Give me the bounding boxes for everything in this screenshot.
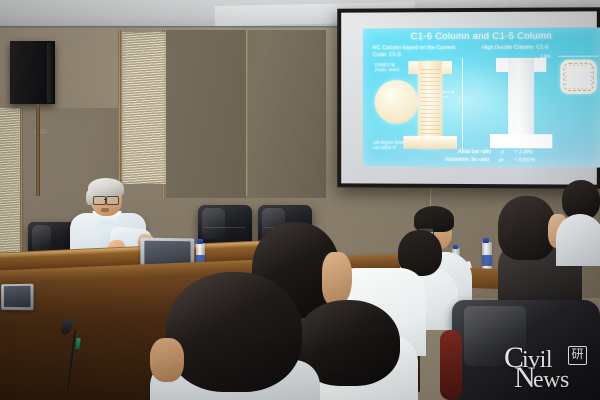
wall-striped-panel-2 bbox=[0, 108, 22, 258]
presenter-glasses-bridge bbox=[104, 199, 107, 200]
photo-scene: C1-6 Column and C1-5 Column RC Column ba… bbox=[0, 0, 600, 400]
slide-left-subtitle: RC Column based on the Current Code: C1-… bbox=[373, 45, 456, 58]
presenter-mouth bbox=[101, 208, 109, 212]
presentation-slide: C1-6 Column and C1-5 Column RC Column ba… bbox=[363, 27, 600, 167]
slide-footer-symbol-1: ρ bbox=[501, 148, 504, 156]
slide-right-subtitle: High Ductile Column: C1-6 bbox=[482, 45, 583, 52]
wall-striped-panel-1 bbox=[122, 32, 166, 184]
slide-note-rebar: D35@37本 (Outer, Inner) bbox=[375, 62, 400, 72]
presenter-glasses-right bbox=[106, 196, 119, 205]
chair-sheen bbox=[464, 306, 526, 366]
slide-footer-label-1: Axial bar ratio bbox=[429, 148, 491, 156]
bottle-label bbox=[482, 255, 492, 266]
slide-left-column-hatch bbox=[420, 68, 440, 146]
slide-dimension-label: 1.8m bbox=[540, 54, 550, 59]
wall-panel-a bbox=[166, 30, 246, 198]
slide-circular-section bbox=[375, 80, 419, 124]
slide-footer-value-2: = 0.911% bbox=[514, 156, 535, 164]
chair-armrest-wood bbox=[440, 330, 462, 400]
bottle-cap-2 bbox=[483, 238, 489, 243]
slide-section-bars bbox=[565, 65, 591, 89]
chair-foreground-right bbox=[452, 300, 600, 400]
bottle-cap-1 bbox=[197, 239, 203, 244]
wall-panel-seam-1 bbox=[246, 30, 248, 196]
slide-footer-value-1: = 2.19% bbox=[514, 148, 533, 156]
audience-body-a7 bbox=[556, 214, 600, 266]
screen-surface: C1-6 Column and C1-5 Column RC Column ba… bbox=[341, 11, 597, 184]
audience-laptop-screen bbox=[4, 286, 31, 308]
wall-pole bbox=[36, 104, 40, 196]
bottle-cap-3 bbox=[453, 245, 458, 249]
projection-screen: C1-6 Column and C1-5 Column RC Column ba… bbox=[337, 7, 600, 188]
audience-ear-a3 bbox=[150, 338, 184, 382]
slide-dim-line-h bbox=[558, 56, 598, 57]
audience-head-a3 bbox=[166, 272, 302, 392]
audience-ear-face-a2 bbox=[322, 252, 352, 306]
slide-right-column-base bbox=[490, 134, 552, 148]
wall-trim-2 bbox=[118, 30, 121, 186]
slide-footer-label-2: Volumetric tie ratio bbox=[427, 156, 489, 164]
slide-cross-section bbox=[560, 60, 596, 94]
wall-trim-3 bbox=[20, 108, 23, 258]
chair-sheen bbox=[32, 225, 51, 253]
loudspeaker-side bbox=[47, 43, 53, 103]
slide-footer-symbol-2: ρs bbox=[499, 156, 504, 164]
slide-title: C1-6 Column and C1-5 Column bbox=[363, 30, 600, 42]
slide-footer: Axial bar ratio ρ = 2.19% Volumetric tie… bbox=[363, 148, 600, 165]
audience-laptop-lid[interactable] bbox=[1, 284, 33, 311]
slide-dim-line-v bbox=[462, 58, 463, 150]
presenter-glasses-left bbox=[93, 196, 106, 205]
chair-sheen bbox=[202, 208, 225, 239]
slide-footer-row-2: Volumetric tie ratio ρs = 0.911% bbox=[363, 156, 600, 165]
